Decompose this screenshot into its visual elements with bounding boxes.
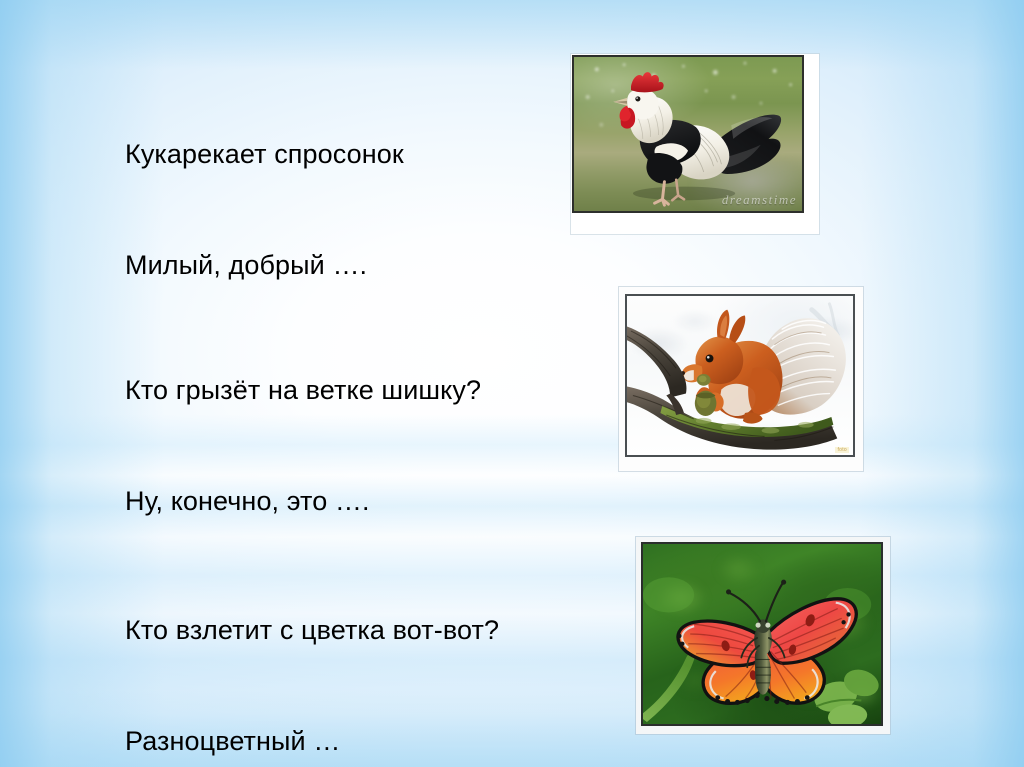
rooster-scene: dreamstime — [574, 57, 802, 211]
riddle-text-butterfly: Кто взлетит с цветка вот-вот? Разноцветн… — [125, 538, 499, 767]
squirrel-watermark: foto — [835, 447, 849, 453]
butterfly-scene — [643, 544, 881, 724]
squirrel-scene: foto — [627, 296, 853, 455]
riddle-line: Ну, конечно, это …. — [125, 483, 481, 520]
squirrel-illustration — [627, 296, 853, 455]
butterfly-illustration — [643, 544, 881, 724]
image-butterfly-frame — [641, 542, 883, 726]
slide-canvas: Кукарекает спросонок Милый, добрый …. Кт… — [0, 0, 1024, 767]
riddle-line: Милый, добрый …. — [125, 247, 404, 284]
image-rooster: dreamstime — [571, 54, 819, 234]
riddle-line: Кто грызёт на ветке шишку? — [125, 372, 481, 409]
riddle-line: Кукарекает спросонок — [125, 136, 404, 173]
riddle-line: Разноцветный … — [125, 723, 499, 760]
image-squirrel-frame: foto — [625, 294, 855, 457]
riddle-line: Кто взлетит с цветка вот-вот? — [125, 612, 499, 649]
image-squirrel: foto — [619, 287, 863, 471]
image-rooster-frame: dreamstime — [572, 55, 804, 213]
rooster-watermark: dreamstime — [722, 192, 797, 208]
image-butterfly — [636, 537, 890, 734]
rooster-illustration — [574, 57, 802, 211]
